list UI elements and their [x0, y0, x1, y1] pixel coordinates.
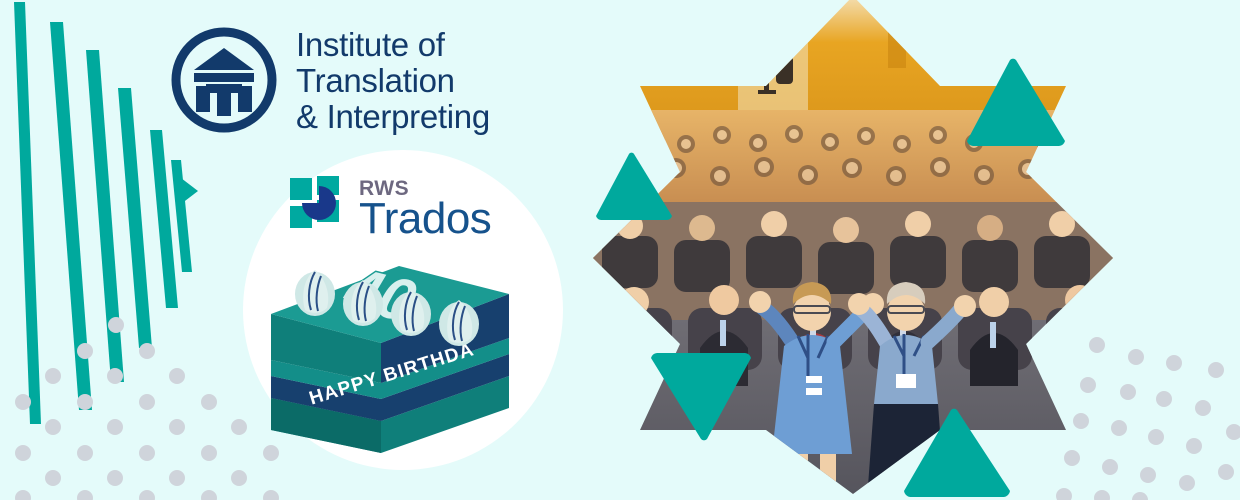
birthday-cake-icon: 40 HAPPY BIRTHDAY: [263, 248, 525, 458]
iti-logo-text: Institute of Translation & Interpreting: [296, 25, 490, 136]
triangle-top-left: [592, 150, 676, 222]
chevron-arrow-tip: [181, 178, 198, 204]
triangle-top-right: [962, 55, 1070, 149]
iti-logo: Institute of Translation & Interpreting: [168, 24, 490, 136]
banner: Institute of Translation & Interpreting …: [0, 0, 1240, 500]
triangle-bottom-right: [898, 405, 1016, 500]
rws-pinwheel-icon: [290, 176, 346, 232]
trados-cake-card: RWS Trados: [243, 150, 563, 470]
triangle-bottom-left: [646, 348, 756, 444]
iti-monogram-circle-icon: [168, 24, 280, 136]
rws-trados-logo: RWS Trados: [290, 176, 491, 241]
trados-product-text: Trados: [359, 197, 491, 241]
